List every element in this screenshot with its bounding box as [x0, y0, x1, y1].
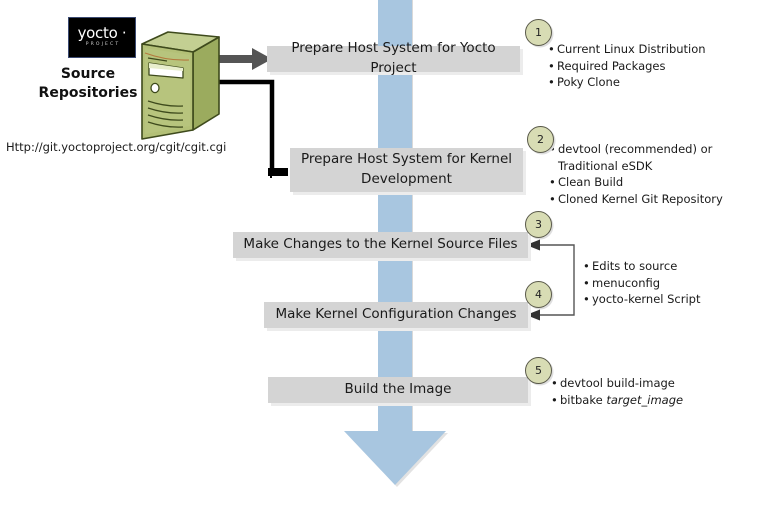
bullet-dot-icon: •	[549, 174, 558, 191]
list-item: • bitbake target_image	[551, 392, 683, 409]
list-item: • devtool (recommended) or Traditional e…	[549, 141, 723, 174]
bullet-text: devtool (recommended) or Traditional eSD…	[558, 141, 712, 174]
list-item: • yocto-kernel Script	[583, 291, 701, 308]
step-number-3: 3	[525, 211, 552, 238]
list-item: • Edits to source	[583, 258, 701, 275]
bullet-text: Edits to source	[592, 258, 677, 275]
bullet-dot-icon: •	[548, 58, 557, 75]
process-box-step2-label: Prepare Host System for Kernel Developme…	[293, 150, 520, 189]
list-item: • devtool build-image	[551, 375, 683, 392]
list-item: • Poky Clone	[548, 74, 706, 91]
bullet-dot-icon: •	[583, 258, 592, 275]
process-box-step1-label: Prepare Host System for Yocto Project	[267, 39, 520, 78]
list-item: • Cloned Kernel Git Repository	[549, 191, 723, 208]
step-number-4-text: 4	[535, 288, 542, 301]
bullet-dot-icon: •	[549, 191, 558, 208]
step-number-2-text: 2	[537, 133, 544, 146]
step-number-5-text: 5	[535, 364, 542, 377]
flow-arrowhead-icon	[344, 431, 446, 485]
bullet-text: Poky Clone	[557, 74, 620, 91]
bullet-dot-icon: •	[551, 375, 560, 392]
step-number-4: 4	[525, 281, 552, 308]
bullet-dot-icon: •	[551, 392, 560, 409]
step3-step4-bullet-list: • Edits to source • menuconfig • yocto-k…	[583, 258, 701, 308]
process-box-step3-label: Make Changes to the Kernel Source Files	[235, 235, 525, 255]
step1-bullet-list: • Current Linux Distribution • Required …	[548, 41, 706, 91]
bullet-text: yocto-kernel Script	[592, 291, 701, 308]
list-item: • Current Linux Distribution	[548, 41, 706, 58]
connector-server-to-step2	[216, 78, 288, 178]
bullet-text: Clean Build	[558, 174, 623, 191]
bullet-dot-icon: •	[548, 41, 557, 58]
list-item: • menuconfig	[583, 275, 701, 292]
step-number-1: 1	[525, 19, 552, 46]
process-box-step2[interactable]: Prepare Host System for Kernel Developme…	[290, 148, 523, 192]
bullet-text: Current Linux Distribution	[557, 41, 706, 58]
process-box-step5-label: Build the Image	[337, 380, 460, 400]
connector-step3-step4-bracket	[524, 237, 584, 323]
process-box-step4[interactable]: Make Kernel Configuration Changes	[264, 302, 528, 328]
step5-bullet-list: • devtool build-image • bitbake target_i…	[551, 375, 683, 408]
bullet-dot-icon: •	[583, 275, 592, 292]
process-box-step5[interactable]: Build the Image	[268, 377, 528, 403]
server-tower-icon	[133, 31, 225, 143]
kernel-dev-workflow-diagram: yocto · PROJECT Source Repositories Http…	[0, 0, 769, 517]
bullet-text: devtool build-image	[560, 375, 675, 392]
bullet-dot-icon: •	[548, 74, 557, 91]
bullet-text-plain: bitbake	[560, 393, 606, 407]
process-box-step4-label: Make Kernel Configuration Changes	[267, 305, 524, 325]
bullet-text: menuconfig	[592, 275, 660, 292]
process-box-step3[interactable]: Make Changes to the Kernel Source Files	[233, 232, 528, 258]
step-number-3-text: 3	[535, 218, 542, 231]
list-item: • Clean Build	[549, 174, 723, 191]
logo-wordmark: yocto ·	[78, 26, 127, 41]
bullet-text-italic: target_image	[606, 393, 683, 407]
step2-bullet-list: • devtool (recommended) or Traditional e…	[549, 141, 723, 207]
step-number-2: 2	[527, 126, 554, 153]
list-item: • Required Packages	[548, 58, 706, 75]
yocto-project-logo: yocto · PROJECT	[68, 17, 136, 58]
logo-subtext: PROJECT	[86, 41, 121, 49]
bullet-text: bitbake target_image	[560, 392, 683, 409]
step-number-1-text: 1	[535, 26, 542, 39]
bullet-text: Required Packages	[557, 58, 666, 75]
bullet-dot-icon: •	[583, 291, 592, 308]
bullet-text: Cloned Kernel Git Repository	[558, 191, 723, 208]
process-box-step1[interactable]: Prepare Host System for Yocto Project	[267, 46, 520, 72]
step-number-5: 5	[525, 357, 552, 384]
source-repositories-label: Source Repositories	[28, 65, 148, 103]
